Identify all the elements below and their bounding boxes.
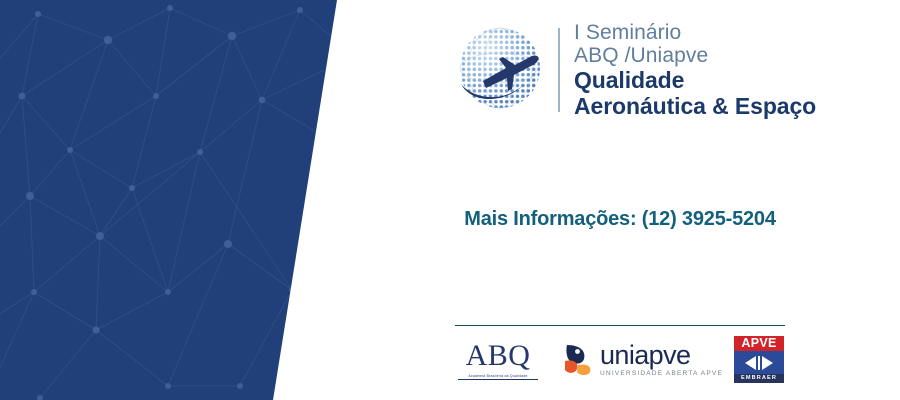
event-logo-text: I Seminário ABQ /Uniapve Qualidade Aeron… <box>574 21 816 120</box>
footer-divider <box>455 325 785 326</box>
decorative-network-panel <box>0 0 345 400</box>
event-line-4: Aeronáutica & Espaço <box>574 94 816 120</box>
embraer-wordmark: EMBRAER <box>734 374 784 383</box>
event-line-1: I Seminário <box>574 21 816 45</box>
event-line-2: ABQ /Uniapve <box>574 44 816 68</box>
uniapve-text: uniapve UNIVERSIDADE ABERTA APVE <box>600 343 723 377</box>
uniapve-logo: uniapve UNIVERSIDADE ABERTA APVE <box>564 343 710 377</box>
sponsor-logos: ABQ Academia Brasileira da Qualidade uni… <box>455 333 785 387</box>
uniapve-wordmark: uniapve <box>600 343 723 369</box>
uniapve-leaf-icon <box>564 343 596 377</box>
network-pattern-icon <box>0 0 345 400</box>
apve-wordmark: APVE <box>734 336 784 351</box>
double-chevron-icon <box>737 354 781 372</box>
abq-subtitle: Academia Brasileira da Qualidade <box>468 374 527 378</box>
event-logo: I Seminário ABQ /Uniapve Qualidade Aeron… <box>450 14 780 126</box>
globe-airplane-icon <box>450 18 554 122</box>
apve-embraer-logo: APVE EMBRAER <box>733 335 785 385</box>
contact-info: Mais Informações: (12) 3925-5204 <box>450 208 790 231</box>
apve-chevrons <box>734 351 784 374</box>
abq-logo: ABQ Academia Brasileira da Qualidade <box>455 341 541 380</box>
abq-underline <box>458 379 538 380</box>
event-banner: I Seminário ABQ /Uniapve Qualidade Aeron… <box>0 0 900 400</box>
uniapve-subtitle: UNIVERSIDADE ABERTA APVE <box>600 370 723 377</box>
event-line-3: Qualidade <box>574 68 816 94</box>
abq-wordmark: ABQ <box>466 341 531 371</box>
logo-divider <box>558 28 560 112</box>
